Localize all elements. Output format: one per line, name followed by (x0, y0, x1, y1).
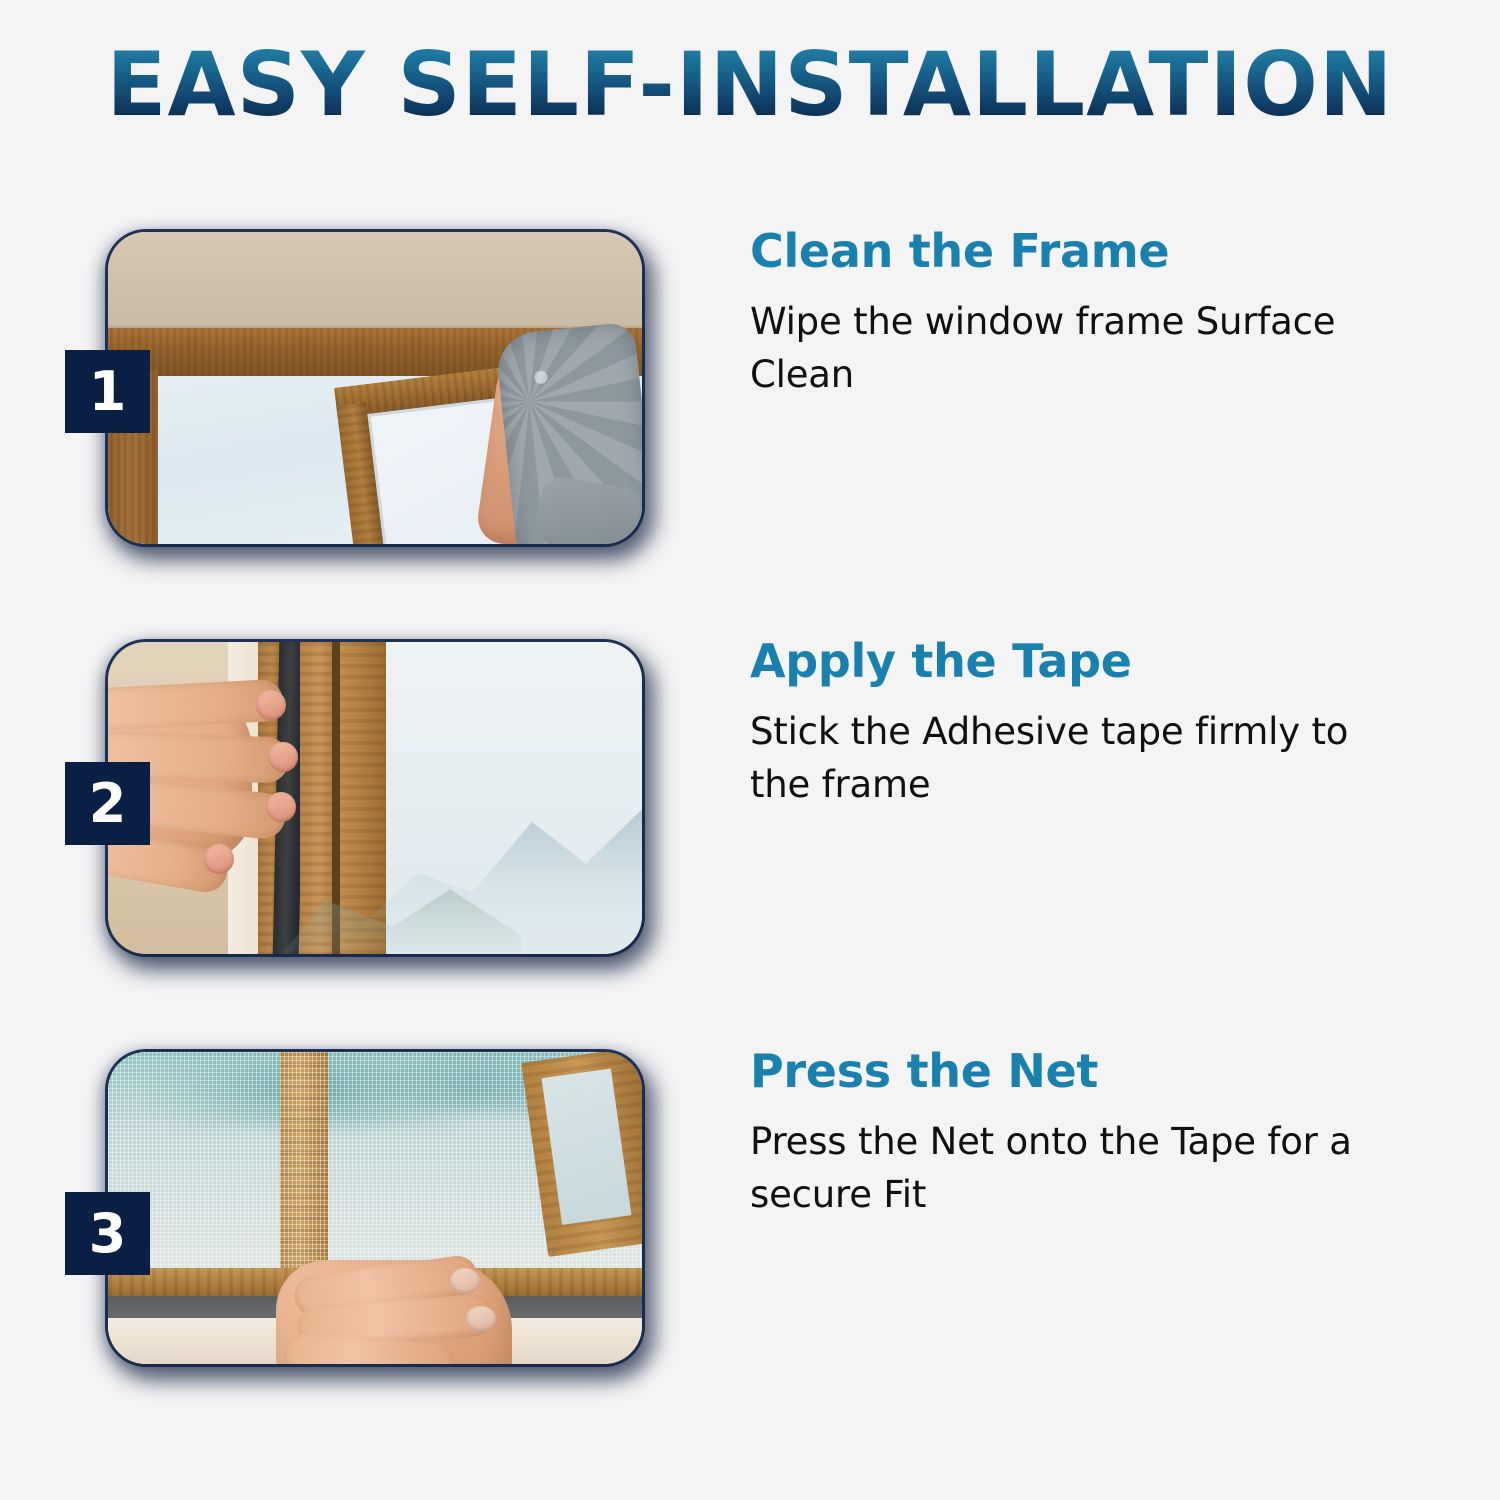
step-item: 2 Apply the Tape Stick the Adhesive tape… (0, 638, 1500, 968)
fingernail (266, 792, 296, 822)
step-image-card[interactable] (108, 642, 642, 954)
step-description: Stick the Adhesive tape firmly to the fr… (750, 706, 1390, 811)
step-image-card[interactable] (108, 1052, 642, 1364)
clean-frame-photo (108, 232, 642, 544)
window-frame-outer (340, 642, 388, 954)
fingernail (256, 690, 286, 720)
ceiling-band (108, 232, 642, 328)
step-heading: Apply the Tape (750, 638, 1410, 684)
step-description: Wipe the window frame Surface Clean (750, 296, 1390, 401)
step-text-block: Apply the Tape Stick the Adhesive tape f… (750, 638, 1410, 811)
fingernail (450, 1268, 480, 1294)
fingernail (204, 844, 234, 874)
steps-list: 1 Clean the Frame Wipe the window frame … (0, 0, 1500, 1500)
fingernail (268, 742, 298, 772)
step-description: Press the Net onto the Tape for a secure… (750, 1116, 1390, 1221)
step-image-card[interactable] (108, 232, 642, 544)
step-item: 3 Press the Net Press the Net onto the T… (0, 1048, 1500, 1378)
step-heading: Press the Net (750, 1048, 1410, 1094)
infographic-page: EASY SELF-INSTALLATION (0, 0, 1500, 1500)
step-number-badge: 3 (65, 1192, 150, 1275)
step-number-badge: 2 (65, 762, 150, 845)
press-net-photo (108, 1052, 642, 1364)
apply-tape-photo (108, 642, 642, 954)
step-item: 1 Clean the Frame Wipe the window frame … (0, 228, 1500, 558)
step-heading: Clean the Frame (750, 228, 1410, 274)
step-text-block: Press the Net Press the Net onto the Tap… (750, 1048, 1410, 1221)
step-number-badge: 1 (65, 350, 150, 433)
fingernail (466, 1306, 496, 1332)
step-text-block: Clean the Frame Wipe the window frame Su… (750, 228, 1410, 401)
